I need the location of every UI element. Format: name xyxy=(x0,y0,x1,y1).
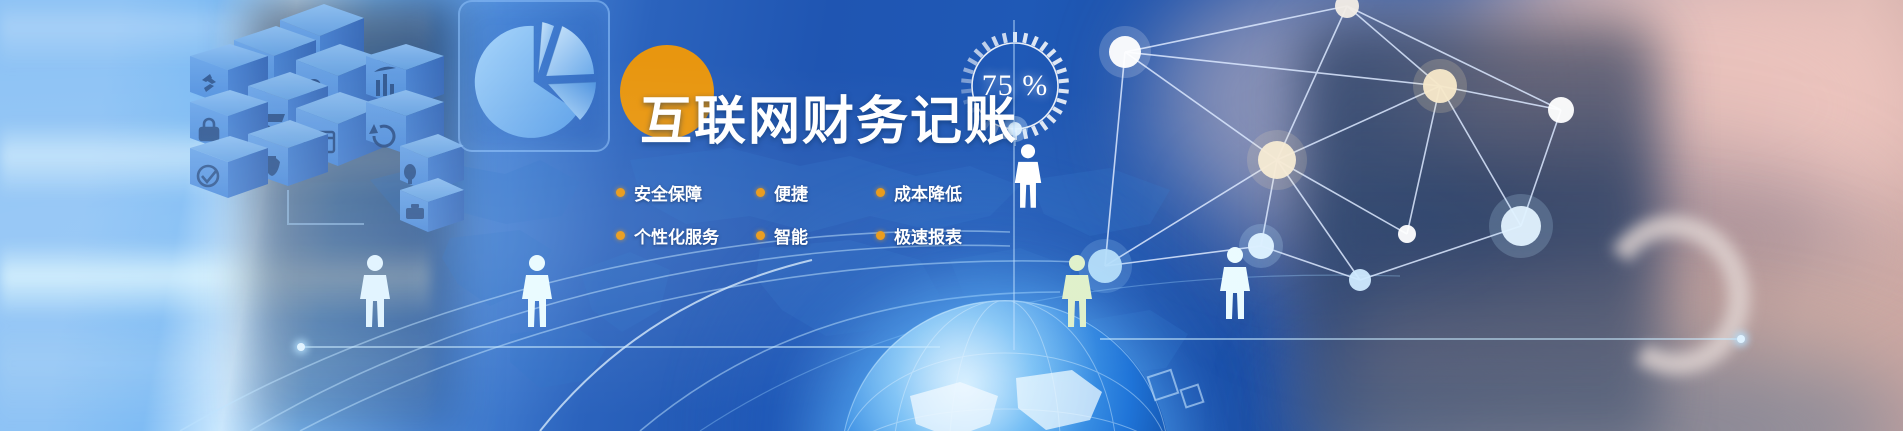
bullet-dot-icon xyxy=(756,188,765,197)
person-icon xyxy=(1060,253,1094,329)
bullet-dot-icon xyxy=(876,231,885,240)
network-graph-icon xyxy=(1055,0,1625,318)
guide-line xyxy=(300,346,940,348)
page-title: 互联网财务记账 xyxy=(640,96,1018,148)
feature-label: 成本降低 xyxy=(894,180,962,205)
bullet-dot-icon xyxy=(756,231,765,240)
person-icon xyxy=(520,253,554,329)
bullet-dot-icon xyxy=(876,188,885,197)
feature-label: 安全保障 xyxy=(634,180,702,205)
feature-label: 个性化服务 xyxy=(634,223,719,248)
feature-label: 便捷 xyxy=(774,180,808,205)
pie-chart-icon xyxy=(468,8,606,148)
feature-list: 安全保障 便捷 成本降低 个性化服务 智能 极速报表 xyxy=(616,180,996,266)
guide-endpoint-dot xyxy=(297,343,305,351)
guide-line xyxy=(1100,338,1740,340)
guide-endpoint-dot xyxy=(1737,335,1745,343)
feature-item: 便捷 xyxy=(756,180,876,205)
person-icon xyxy=(1013,142,1043,210)
person-icon xyxy=(358,253,392,329)
feature-row: 安全保障 便捷 成本降低 xyxy=(616,180,996,205)
bullet-dot-icon xyxy=(616,188,625,197)
feature-item: 极速报表 xyxy=(876,223,996,248)
bullet-dot-icon xyxy=(616,231,625,240)
feature-item: 智能 xyxy=(756,223,876,248)
person-icon xyxy=(1218,245,1252,321)
hero-banner: $ xyxy=(0,0,1903,431)
pie-chart-card xyxy=(458,0,610,152)
globe-icon xyxy=(840,300,1170,431)
globe-landmass xyxy=(840,300,1170,431)
guide-line xyxy=(1013,20,1015,350)
feature-label: 极速报表 xyxy=(894,223,962,248)
feature-item: 成本降低 xyxy=(876,180,996,205)
feature-label: 智能 xyxy=(774,223,808,248)
feature-row: 个性化服务 智能 极速报表 xyxy=(616,223,996,248)
feature-item: 个性化服务 xyxy=(616,223,756,248)
app-icon-cube: $ xyxy=(168,0,468,244)
feature-item: 安全保障 xyxy=(616,180,756,205)
